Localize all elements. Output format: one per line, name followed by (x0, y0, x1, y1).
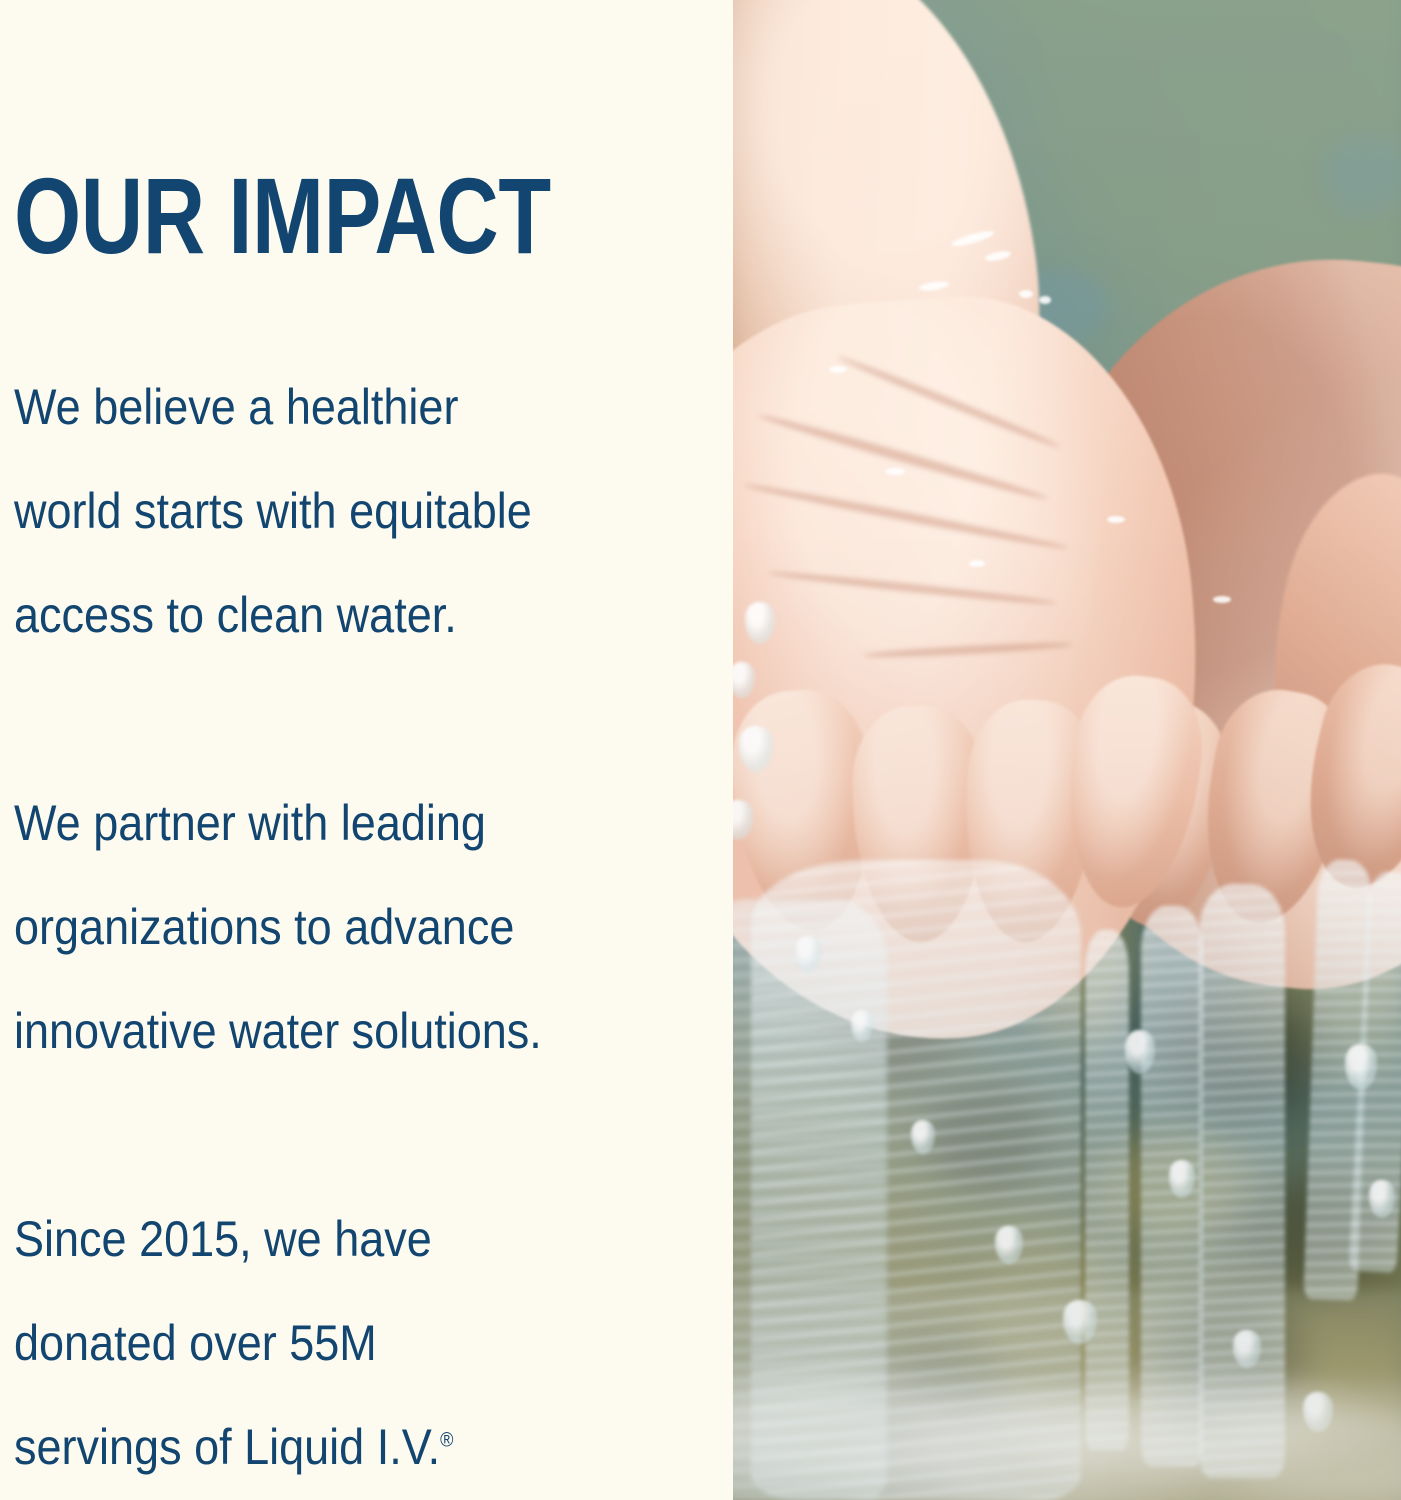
paragraph-donations-text: Since 2015, we have donated over 55M ser… (14, 1211, 440, 1475)
our-impact-promo-card: OUR IMPACT We believe a healthier world … (0, 0, 1401, 1500)
paragraph-donations: Since 2015, we have donated over 55M ser… (14, 1187, 608, 1499)
body-copy: We believe a healthier world starts with… (14, 355, 674, 1499)
hands-with-water-photo (733, 0, 1401, 1500)
paragraph-partners: We partner with leading organizations to… (14, 771, 608, 1083)
page-title: OUR IMPACT (14, 166, 551, 266)
registered-trademark-icon: ® (440, 1429, 453, 1451)
copy-panel: OUR IMPACT We believe a healthier world … (0, 0, 733, 1500)
paragraph-belief: We believe a healthier world starts with… (14, 355, 608, 667)
photo-color-grade (733, 0, 1401, 1500)
